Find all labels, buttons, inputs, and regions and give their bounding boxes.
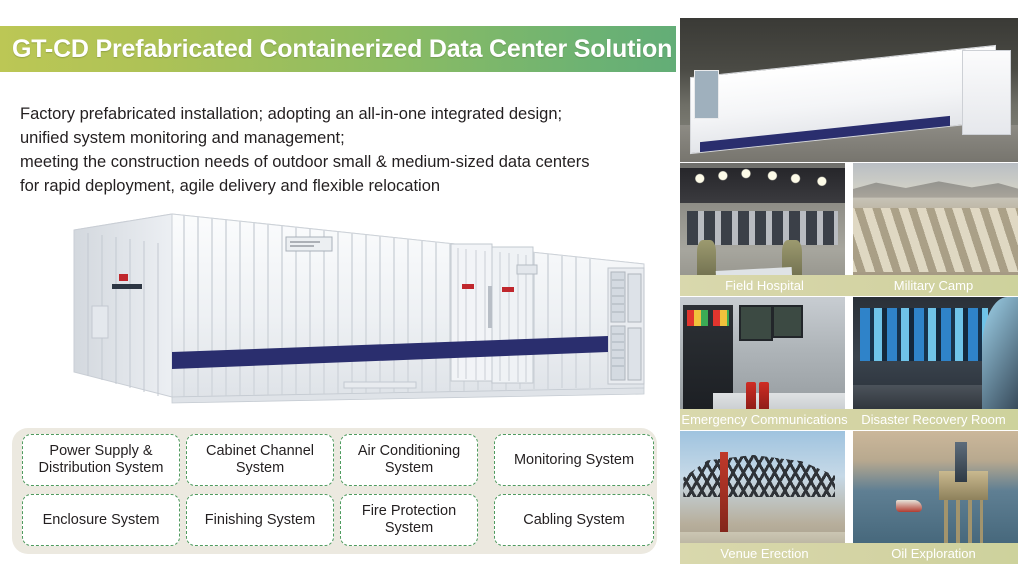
systems-panel: Power Supply & Distribution System Cabin… [12,428,657,554]
intro-line-4: for rapid deployment, agile delivery and… [20,174,660,198]
door-decal-left [462,284,474,289]
intro-line-3: meeting the construction needs of outdoo… [20,150,660,174]
slide-title-bar: GT-CD Prefabricated Containerized Data C… [0,26,676,72]
slide-canvas: GT-CD Prefabricated Containerized Data C… [0,0,1024,576]
caption-band-row-1: Field Hospital Military Camp [680,275,1018,296]
caption-band-row-3: Venue Erection Oil Exploration [680,543,1018,564]
caption-field-hospital: Field Hospital [680,275,849,296]
system-tag-air-conditioning[interactable]: Air Conditioning System [340,434,478,486]
intro-paragraph: Factory prefabricated installation; adop… [20,102,660,198]
intro-line-1: Factory prefabricated installation; adop… [20,102,660,126]
caption-band-row-2: Emergency Communications Disaster Recove… [680,409,1018,430]
page-title: GT-CD Prefabricated Containerized Data C… [0,35,672,64]
container-nameplate [286,237,332,251]
caption-disaster-recovery-room: Disaster Recovery Room [849,409,1018,430]
container-svg [52,212,652,417]
door-handle[interactable] [488,286,492,328]
system-tag-cabling[interactable]: Cabling System [494,494,654,546]
intro-line-2: unified system monitoring and management… [20,126,660,150]
caption-emergency-communications: Emergency Communications [680,409,849,430]
systems-grid: Power Supply & Distribution System Cabin… [22,434,650,550]
caption-venue-erection: Venue Erection [680,543,849,564]
system-tag-finishing[interactable]: Finishing System [186,494,334,546]
caption-military-camp: Military Camp [849,275,1018,296]
application-photo-column: Field Hospital Military Camp [680,18,1018,562]
photo-row-2: Emergency Communications Disaster Recove… [680,297,1018,430]
system-tag-enclosure[interactable]: Enclosure System [22,494,180,546]
container-datacenter-illustration [52,212,652,417]
door-decal-right [502,287,514,292]
white-container-data-center-photo [680,18,1018,162]
system-tag-fire-protection[interactable]: Fire Protection System [340,494,478,546]
caption-oil-exploration: Oil Exploration [849,543,1018,564]
system-tag-monitoring[interactable]: Monitoring System [494,434,654,486]
system-tag-power-supply-distribution[interactable]: Power Supply & Distribution System [22,434,180,486]
system-tag-cabinet-channel[interactable]: Cabinet Channel System [186,434,334,486]
louver-panel-section [608,268,644,384]
photo-row-3: Venue Erection Oil Exploration [680,431,1018,564]
photo-row-1: Field Hospital Military Camp [680,163,1018,296]
